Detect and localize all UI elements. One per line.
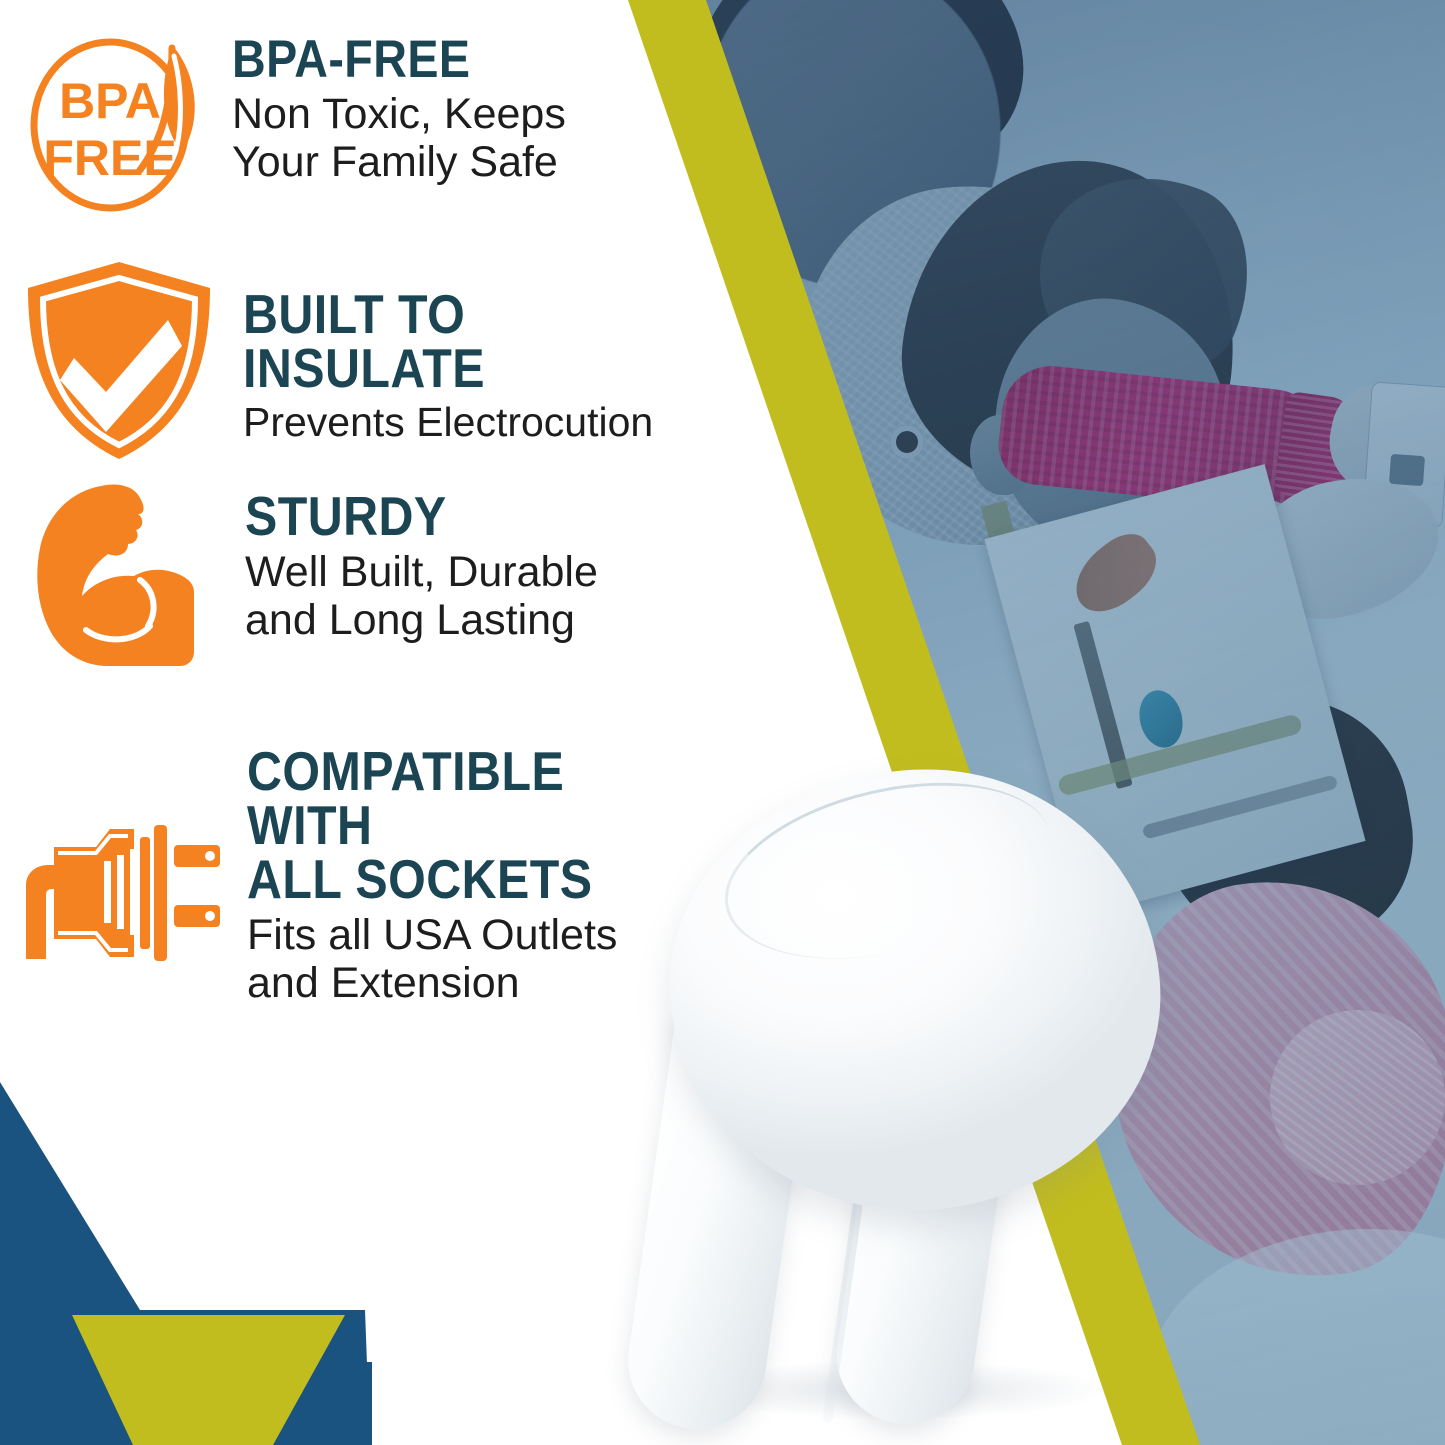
feature-title-built-to-insulate: BUILT TO INSULATE [243,288,698,396]
feature-text-compatible-sockets: COMPATIBLE WITH ALL SOCKETS Fits all USA… [227,745,760,1007]
feature-text-bpa-free: BPA-FREE Non Toxic, Keeps Your Family Sa… [222,30,566,186]
feature-text-built-to-insulate: BUILT TO INSULATE Prevents Electrocution [217,258,760,446]
bpa-free-leaf-badge-icon: BPA FREE [22,30,222,215]
bpa-badge-line2: FREE [43,130,176,186]
feature-subtitle-sturdy: Well Built, Durable and Long Lasting [245,548,598,644]
feature-subtitle-compatible-sockets: Fits all USA Outlets and Extension [247,911,760,1007]
feature-subtitle-built-to-insulate: Prevents Electrocution [243,400,760,446]
plug-cap-edge-highlight [708,754,1069,988]
feature-title-sturdy: STURDY [245,490,556,544]
feature-item-built-to-insulate: BUILT TO INSULATE Prevents Electrocution [22,258,760,463]
flexed-bicep-icon [22,480,217,670]
feature-subtitle-bpa-free: Non Toxic, Keeps Your Family Safe [232,90,566,186]
feature-item-sturdy: STURDY Well Built, Durable and Long Last… [22,480,598,670]
feature-item-bpa-free: BPA FREE BPA-FREE Non Toxic, Keeps Your … [22,30,566,215]
shield-check-icon [22,258,217,463]
electrical-plug-icon [22,823,227,963]
feature-title-bpa-free: BPA-FREE [232,34,526,86]
feature-text-sturdy: STURDY Well Built, Durable and Long Last… [217,480,598,644]
feature-item-compatible-sockets: COMPATIBLE WITH ALL SOCKETS Fits all USA… [22,745,760,1007]
product-feature-infographic: BPA FREE BPA-FREE Non Toxic, Keeps Your … [0,0,1445,1445]
feature-title-compatible-sockets: COMPATIBLE WITH ALL SOCKETS [247,745,698,907]
bpa-badge-line1: BPA [59,73,161,129]
